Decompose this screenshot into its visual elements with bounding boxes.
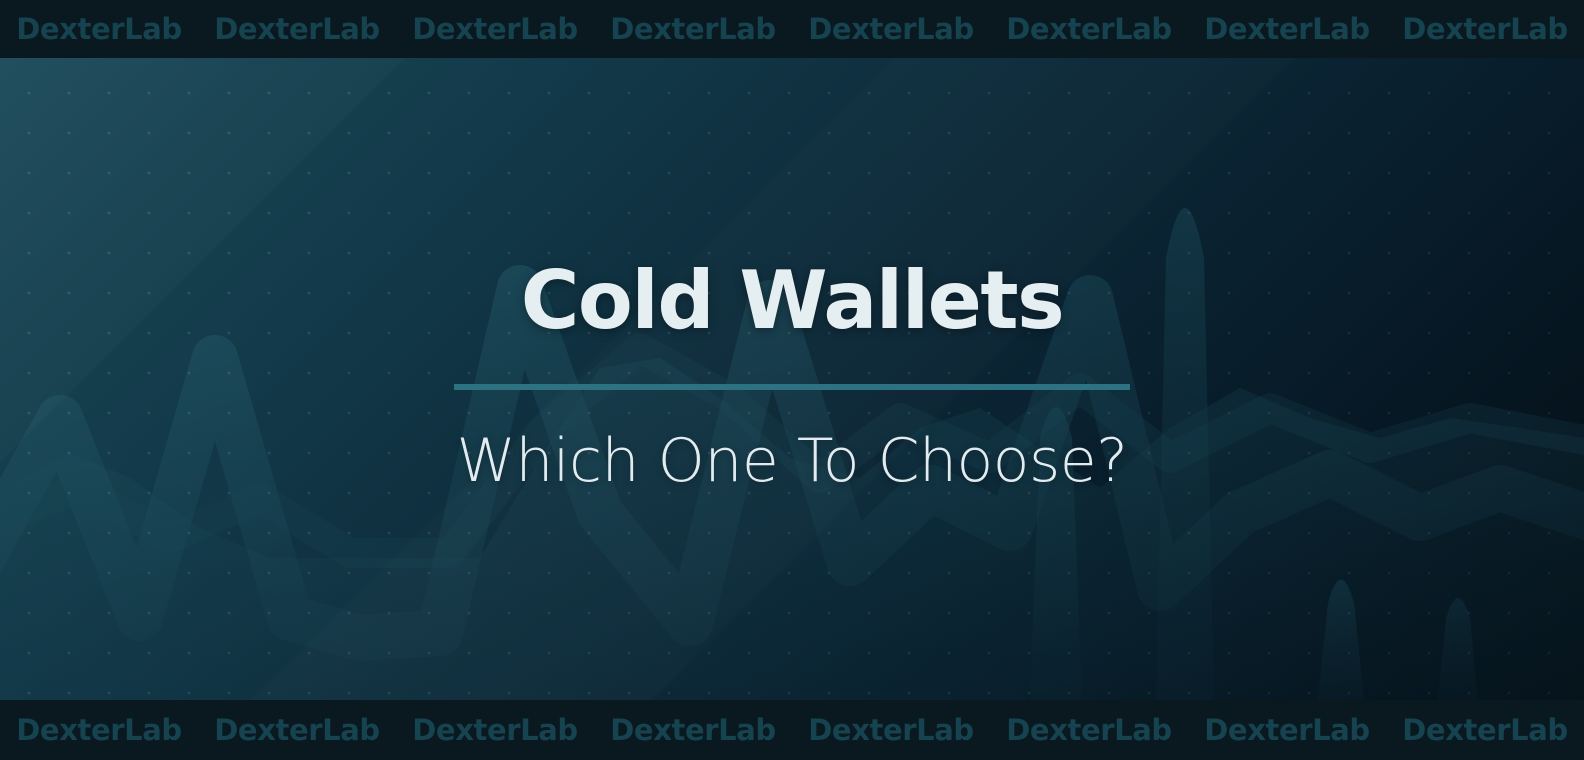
page-subtitle: Which One To Choose? xyxy=(457,431,1128,491)
watermark-label: DexterLab xyxy=(412,15,578,44)
watermark-label: DexterLab xyxy=(808,716,974,745)
watermark-label: DexterLab xyxy=(16,15,182,44)
watermark-label: DexterLab xyxy=(412,716,578,745)
watermark-bar-bottom: DexterLab DexterLab DexterLab DexterLab … xyxy=(0,700,1584,760)
watermark-bar-top: DexterLab DexterLab DexterLab DexterLab … xyxy=(0,0,1584,58)
watermark-label: DexterLab xyxy=(16,716,182,745)
watermark-label: DexterLab xyxy=(1006,15,1172,44)
watermark-label: DexterLab xyxy=(610,15,776,44)
cold-wallets-banner: DexterLab DexterLab DexterLab DexterLab … xyxy=(0,0,1584,760)
title-divider xyxy=(454,384,1130,390)
banner-stage: Cold Wallets Which One To Choose? xyxy=(0,58,1584,700)
watermark-label: DexterLab xyxy=(1402,15,1568,44)
watermark-label: DexterLab xyxy=(1204,716,1370,745)
page-title: Cold Wallets xyxy=(521,261,1064,341)
watermark-label: DexterLab xyxy=(1204,15,1370,44)
watermark-label: DexterLab xyxy=(1006,716,1172,745)
watermark-label: DexterLab xyxy=(1402,716,1568,745)
watermark-label: DexterLab xyxy=(610,716,776,745)
watermark-label: DexterLab xyxy=(808,15,974,44)
watermark-label: DexterLab xyxy=(214,15,380,44)
watermark-label: DexterLab xyxy=(214,716,380,745)
banner-content: Cold Wallets Which One To Choose? xyxy=(0,58,1584,700)
